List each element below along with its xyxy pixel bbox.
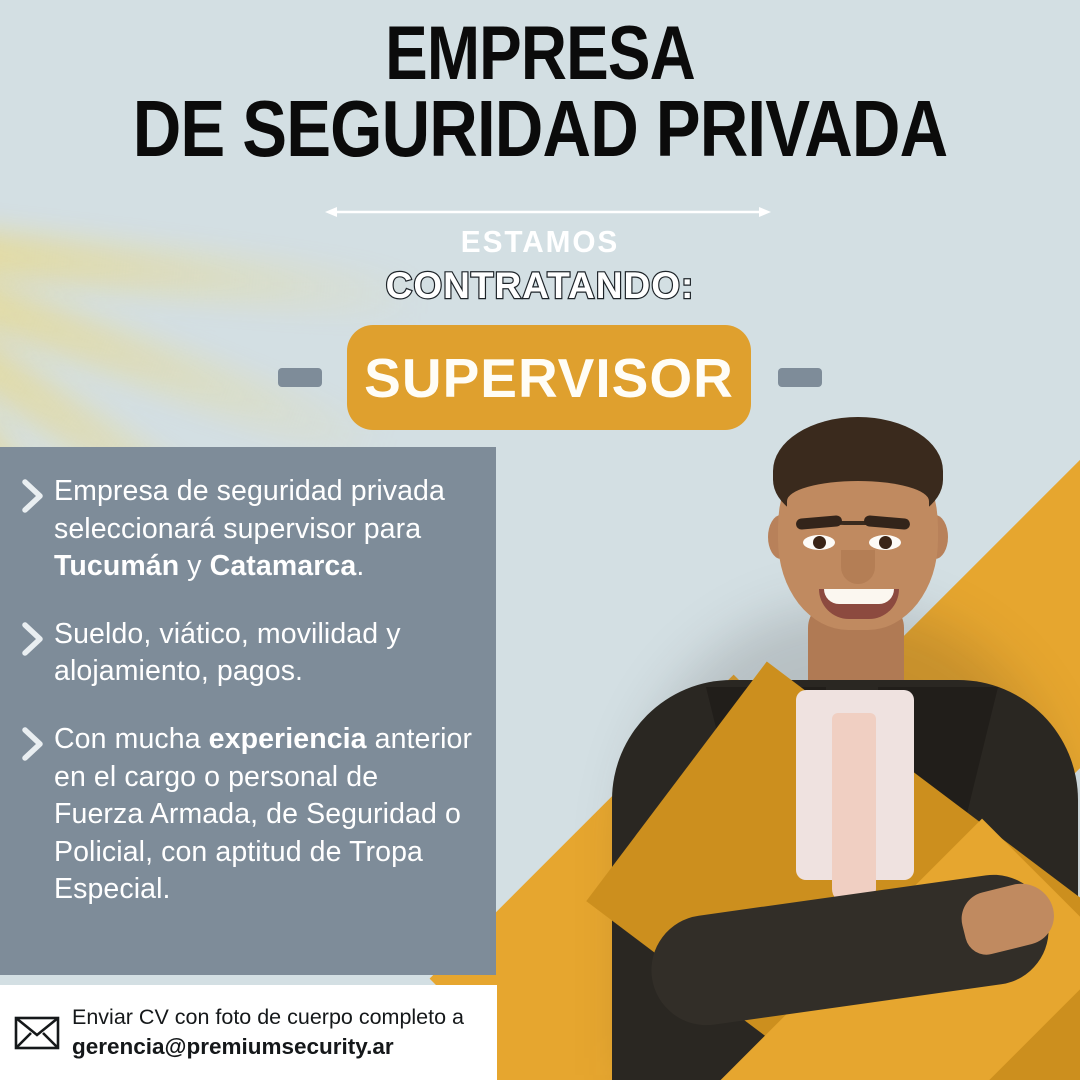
badge-dash-left <box>278 368 322 387</box>
requirements-panel: Empresa de seguridad privada seleccionar… <box>0 447 496 975</box>
list-item: Sueldo, viático, movilidad y alojamiento… <box>16 616 474 691</box>
position-badge-label: SUPERVISOR <box>364 346 734 410</box>
list-item-text: Empresa de seguridad privada seleccionar… <box>54 473 474 586</box>
position-badge: SUPERVISOR <box>347 325 751 430</box>
envelope-icon <box>14 1016 60 1050</box>
contact-instruction: Enviar CV con foto de cuerpo completo a <box>72 1003 464 1031</box>
chevron-right-icon <box>20 622 46 656</box>
badge-dash-right <box>778 368 822 387</box>
double-arrow-icon <box>325 205 771 219</box>
job-ad-poster: EMPRESA DE SEGURIDAD PRIVADA ESTAMOS CON… <box>0 0 1080 1080</box>
subhead-estamos: ESTAMOS <box>22 224 1059 260</box>
list-item-text: Con mucha experiencia anterior en el car… <box>54 721 474 909</box>
contact-email[interactable]: gerencia@premiumsecurity.ar <box>72 1032 464 1062</box>
list-item-text: Sueldo, viático, movilidad y alojamiento… <box>54 616 474 691</box>
chevron-right-icon <box>20 727 46 761</box>
subhead-contratando: CONTRATANDO: <box>0 265 1080 307</box>
headline-line-1: EMPRESA <box>86 18 993 91</box>
headline-line-2: DE SEGURIDAD PRIVADA <box>86 91 993 168</box>
contact-text: Enviar CV con foto de cuerpo completo a … <box>72 1003 464 1061</box>
chevron-right-icon <box>20 479 46 513</box>
supervisor-photo <box>610 395 1080 1080</box>
page-title: EMPRESA DE SEGURIDAD PRIVADA <box>86 18 993 168</box>
contact-footer: Enviar CV con foto de cuerpo completo a … <box>0 985 497 1080</box>
list-item: Con mucha experiencia anterior en el car… <box>16 721 474 909</box>
list-item: Empresa de seguridad privada seleccionar… <box>16 473 474 586</box>
